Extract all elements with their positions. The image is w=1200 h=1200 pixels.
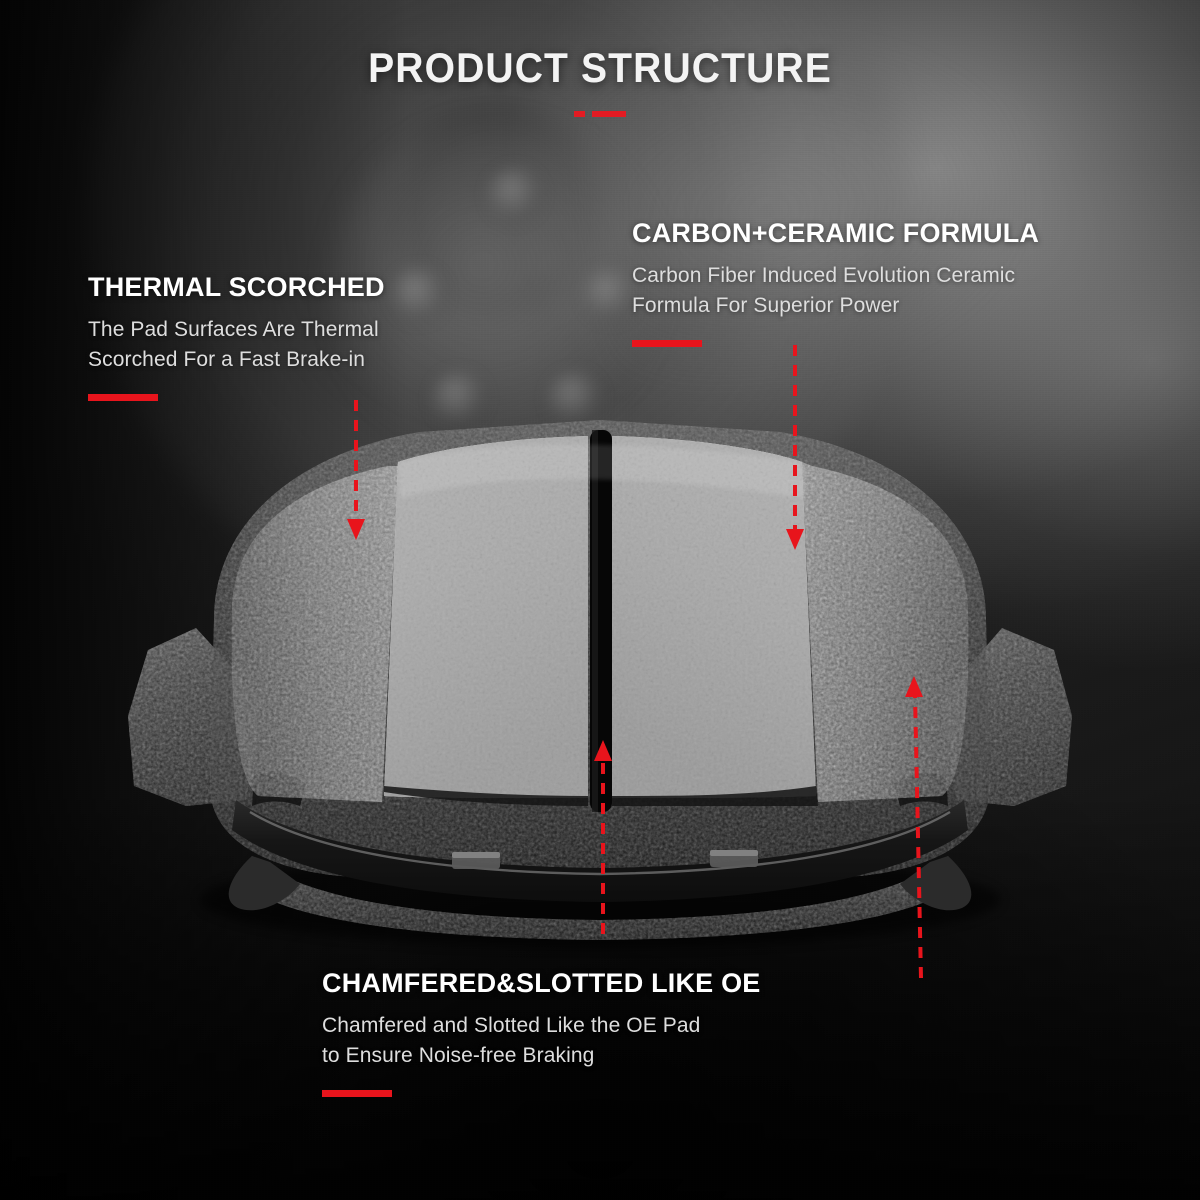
page-title: PRODUCT STRUCTURE bbox=[42, 44, 1158, 92]
feature-block-carbon-ceramic-formula: CARBON+CERAMIC FORMULA Carbon Fiber Indu… bbox=[632, 218, 1039, 347]
feature-block-thermal-scorched: THERMAL SCORCHED The Pad Surfaces Are Th… bbox=[88, 272, 385, 401]
feature-accent-bar bbox=[322, 1090, 392, 1097]
feature-body-line-1: Chamfered and Slotted Like the OE Pad bbox=[322, 1011, 761, 1041]
feature-heading: CHAMFERED&SLOTTED LIKE OE bbox=[322, 968, 761, 999]
pad-center-slot bbox=[590, 430, 612, 812]
feature-block-chamfered-slotted: CHAMFERED&SLOTTED LIKE OE Chamfered and … bbox=[322, 968, 761, 1097]
infographic-canvas: PRODUCT STRUCTURE THERMAL SCORCHED The P… bbox=[0, 0, 1200, 1200]
feature-body-line-1: Carbon Fiber Induced Evolution Ceramic bbox=[632, 261, 1039, 291]
feature-accent-bar bbox=[632, 340, 702, 347]
title-divider-dash-short bbox=[574, 111, 585, 117]
title-divider-dash-long bbox=[592, 111, 626, 117]
feature-body-line-1: The Pad Surfaces Are Thermal bbox=[88, 315, 385, 345]
title-divider bbox=[0, 111, 1200, 117]
feature-body-line-2: Scorched For a Fast Brake-in bbox=[88, 345, 385, 375]
feature-heading: CARBON+CERAMIC FORMULA bbox=[632, 218, 1039, 249]
feature-body-line-2: to Ensure Noise-free Braking bbox=[322, 1041, 761, 1071]
feature-accent-bar bbox=[88, 394, 158, 401]
feature-body-line-2: Formula For Superior Power bbox=[632, 291, 1039, 321]
feature-heading: THERMAL SCORCHED bbox=[88, 272, 385, 303]
